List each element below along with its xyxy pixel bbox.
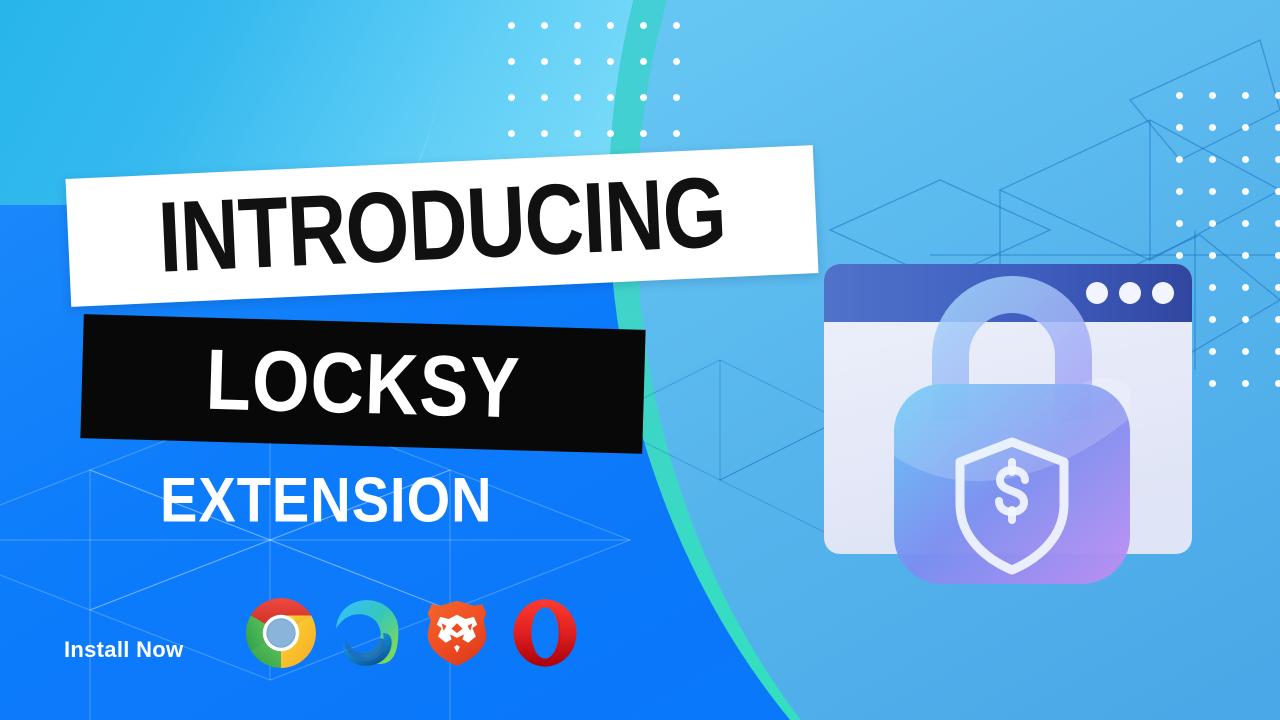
chrome-icon[interactable]	[246, 598, 316, 668]
brave-icon[interactable]	[422, 598, 492, 668]
install-now-label[interactable]: Install Now	[64, 637, 183, 663]
product-name-banner: LOCKSY	[80, 314, 645, 454]
browser-lock-graphic	[812, 246, 1212, 596]
dot-grid-top	[508, 22, 706, 166]
hero-illustration	[812, 246, 1212, 596]
edge-icon[interactable]	[334, 598, 404, 668]
window-control-dots	[1086, 282, 1174, 304]
opera-icon[interactable]	[510, 598, 580, 668]
promo-banner-canvas: INTRODUCING LOCKSY EXTENSION Install Now	[0, 0, 1280, 720]
browser-logo-row	[246, 598, 580, 668]
eyebrow-label: INTRODUCING	[156, 163, 727, 289]
product-name-label: LOCKSY	[205, 337, 522, 432]
subtitle-label: EXTENSION	[160, 469, 493, 532]
